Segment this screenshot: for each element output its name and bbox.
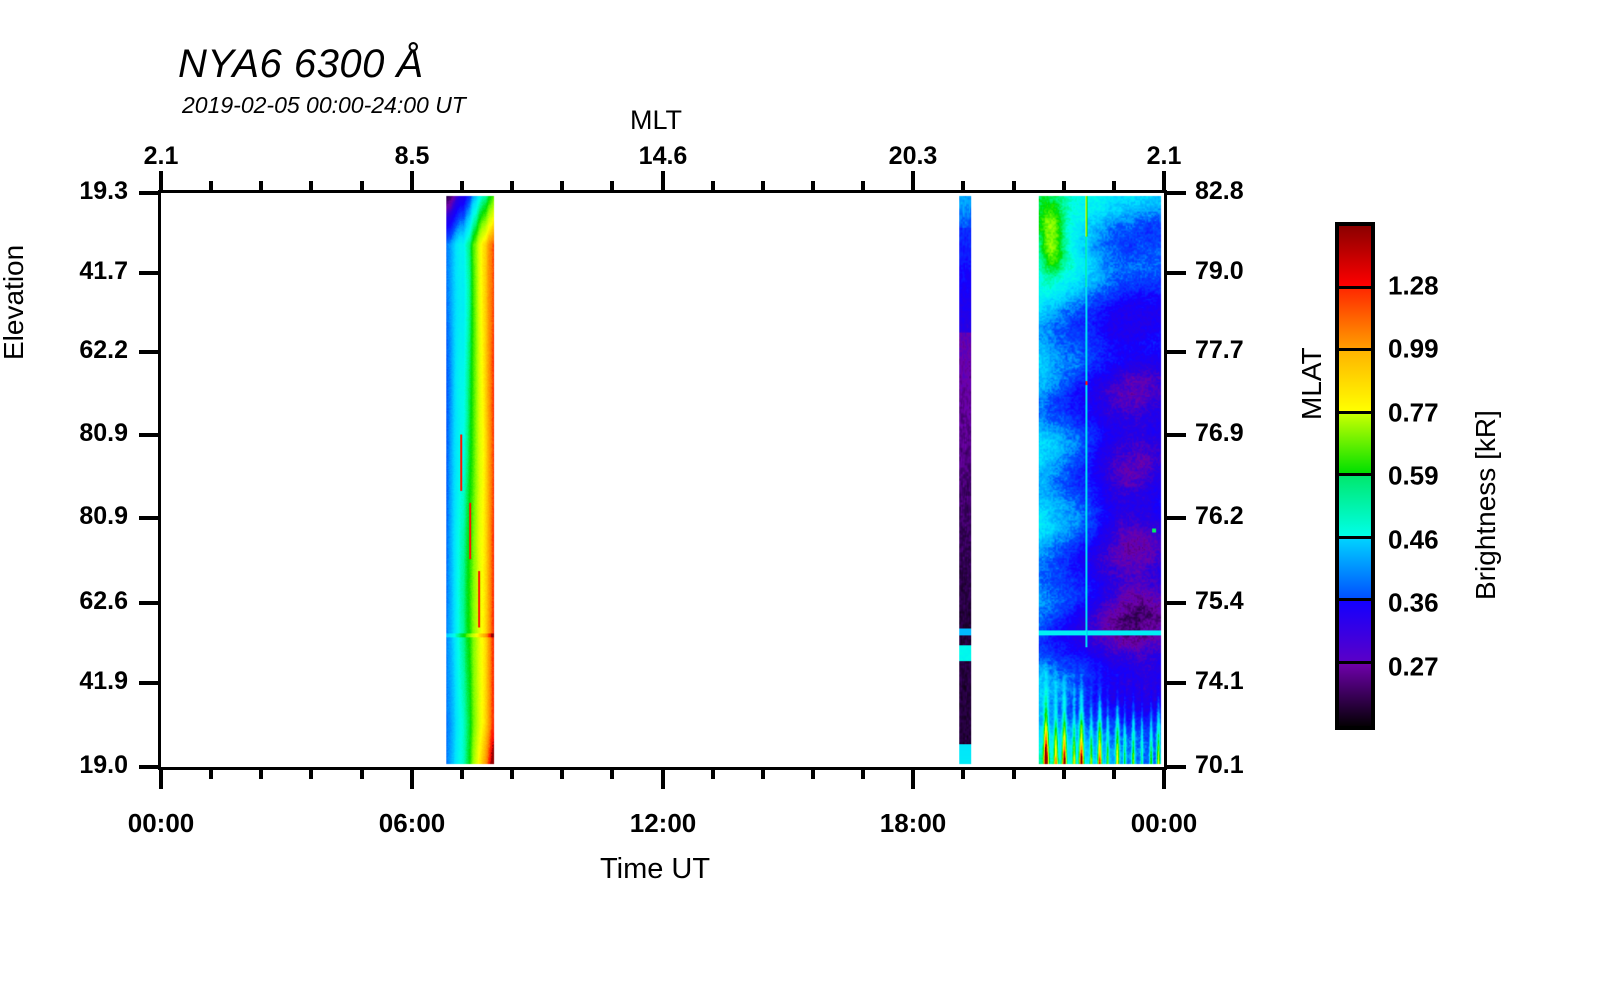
y-major-tick bbox=[139, 350, 161, 354]
colorbar-tick-label: 1.28 bbox=[1388, 270, 1439, 301]
x-tick-label: 12:00 bbox=[630, 808, 697, 839]
colorbar-segment bbox=[1339, 476, 1371, 539]
x-major-tick bbox=[410, 767, 414, 789]
top-tick-label: 20.3 bbox=[889, 142, 938, 171]
y-major-tick bbox=[139, 191, 161, 195]
x-tick-label: 00:00 bbox=[128, 808, 195, 839]
top-major-tick bbox=[1162, 171, 1166, 193]
y-major-tick bbox=[139, 516, 161, 520]
right-tick-label: 76.9 bbox=[1195, 419, 1244, 448]
page-subtitle: 2019-02-05 00:00-24:00 UT bbox=[182, 92, 466, 119]
x-minor-tick bbox=[761, 767, 765, 779]
top-minor-tick bbox=[1112, 181, 1116, 193]
right-major-tick bbox=[1164, 191, 1186, 195]
right-major-tick bbox=[1164, 350, 1186, 354]
right-major-tick bbox=[1164, 681, 1186, 685]
colorbar-segment bbox=[1339, 414, 1371, 477]
right-major-tick bbox=[1164, 765, 1186, 769]
x-minor-tick bbox=[961, 767, 965, 779]
top-minor-tick bbox=[560, 181, 564, 193]
top-tick-label: 2.1 bbox=[144, 142, 179, 171]
x-minor-tick bbox=[209, 767, 213, 779]
keogram-plot-area bbox=[158, 190, 1167, 770]
top-minor-tick bbox=[811, 181, 815, 193]
x-minor-tick bbox=[1112, 767, 1116, 779]
keogram-image bbox=[161, 193, 1164, 767]
x-major-tick bbox=[661, 767, 665, 789]
right-axis-label: MLAT bbox=[1296, 347, 1328, 420]
x-minor-tick bbox=[811, 767, 815, 779]
x-minor-tick bbox=[861, 767, 865, 779]
y-tick-label: 80.9 bbox=[79, 502, 128, 531]
colorbar-label: Brightness [kR] bbox=[1470, 410, 1502, 600]
x-minor-tick bbox=[1012, 767, 1016, 779]
colorbar-segment bbox=[1339, 226, 1371, 289]
top-minor-tick bbox=[610, 181, 614, 193]
x-minor-tick bbox=[460, 767, 464, 779]
y-tick-label: 62.2 bbox=[79, 336, 128, 365]
colorbar-tick-label: 0.59 bbox=[1388, 461, 1439, 492]
x-axis-label: Time UT bbox=[600, 853, 710, 886]
top-minor-tick bbox=[510, 181, 514, 193]
top-tick-label: 14.6 bbox=[639, 142, 688, 171]
right-tick-label: 74.1 bbox=[1195, 667, 1244, 696]
x-minor-tick bbox=[510, 767, 514, 779]
top-minor-tick bbox=[1012, 181, 1016, 193]
colorbar-segment bbox=[1339, 601, 1371, 664]
top-minor-tick bbox=[259, 181, 263, 193]
x-minor-tick bbox=[711, 767, 715, 779]
right-major-tick bbox=[1164, 433, 1186, 437]
page-title: NYA6 6300 Å bbox=[178, 42, 424, 87]
top-minor-tick bbox=[961, 181, 965, 193]
top-minor-tick bbox=[209, 181, 213, 193]
top-minor-tick bbox=[711, 181, 715, 193]
y-tick-label: 80.9 bbox=[79, 419, 128, 448]
y-tick-label: 19.3 bbox=[79, 177, 128, 206]
right-major-tick bbox=[1164, 271, 1186, 275]
colorbar-tick-label: 0.77 bbox=[1388, 397, 1439, 428]
colorbar-tick-label: 0.27 bbox=[1388, 651, 1439, 682]
top-minor-tick bbox=[761, 181, 765, 193]
x-tick-label: 18:00 bbox=[880, 808, 947, 839]
y-tick-label: 41.7 bbox=[79, 257, 128, 286]
right-tick-label: 79.0 bbox=[1195, 257, 1244, 286]
colorbar-segment bbox=[1339, 664, 1371, 727]
colorbar-tick-label: 0.36 bbox=[1388, 588, 1439, 619]
y-tick-label: 41.9 bbox=[79, 667, 128, 696]
x-minor-tick bbox=[309, 767, 313, 779]
top-minor-tick bbox=[309, 181, 313, 193]
x-tick-label: 06:00 bbox=[379, 808, 446, 839]
top-tick-label: 2.1 bbox=[1147, 142, 1182, 171]
right-tick-label: 75.4 bbox=[1195, 587, 1244, 616]
y-major-tick bbox=[139, 681, 161, 685]
x-minor-tick bbox=[259, 767, 263, 779]
colorbar-segment bbox=[1339, 539, 1371, 602]
right-tick-label: 82.8 bbox=[1195, 177, 1244, 206]
y-major-tick bbox=[139, 271, 161, 275]
x-major-tick bbox=[1162, 767, 1166, 789]
x-minor-tick bbox=[1062, 767, 1066, 779]
colorbar-segment bbox=[1339, 289, 1371, 352]
top-axis-label: MLT bbox=[630, 105, 682, 136]
top-major-tick bbox=[661, 171, 665, 193]
colorbar-tick-label: 0.46 bbox=[1388, 524, 1439, 555]
y-axis-label: Elevation bbox=[0, 245, 30, 360]
x-major-tick bbox=[911, 767, 915, 789]
top-major-tick bbox=[410, 171, 414, 193]
right-tick-label: 77.7 bbox=[1195, 336, 1244, 365]
top-minor-tick bbox=[360, 181, 364, 193]
colorbar-segment bbox=[1339, 351, 1371, 414]
colorbar-tick-label: 0.99 bbox=[1388, 334, 1439, 365]
colorbar bbox=[1335, 222, 1375, 730]
top-minor-tick bbox=[861, 181, 865, 193]
x-tick-label: 00:00 bbox=[1131, 808, 1198, 839]
y-tick-label: 62.6 bbox=[79, 587, 128, 616]
x-minor-tick bbox=[610, 767, 614, 779]
top-major-tick bbox=[159, 171, 163, 193]
right-major-tick bbox=[1164, 601, 1186, 605]
y-tick-label: 19.0 bbox=[79, 751, 128, 780]
top-tick-label: 8.5 bbox=[395, 142, 430, 171]
right-major-tick bbox=[1164, 516, 1186, 520]
y-major-tick bbox=[139, 601, 161, 605]
x-major-tick bbox=[159, 767, 163, 789]
x-minor-tick bbox=[360, 767, 364, 779]
right-tick-label: 76.2 bbox=[1195, 502, 1244, 531]
y-major-tick bbox=[139, 433, 161, 437]
top-minor-tick bbox=[1062, 181, 1066, 193]
keogram-figure: NYA6 6300 Å 2019-02-05 00:00-24:00 UT ML… bbox=[0, 0, 1600, 1000]
y-major-tick bbox=[139, 765, 161, 769]
top-minor-tick bbox=[460, 181, 464, 193]
top-major-tick bbox=[911, 171, 915, 193]
x-minor-tick bbox=[560, 767, 564, 779]
right-tick-label: 70.1 bbox=[1195, 751, 1244, 780]
